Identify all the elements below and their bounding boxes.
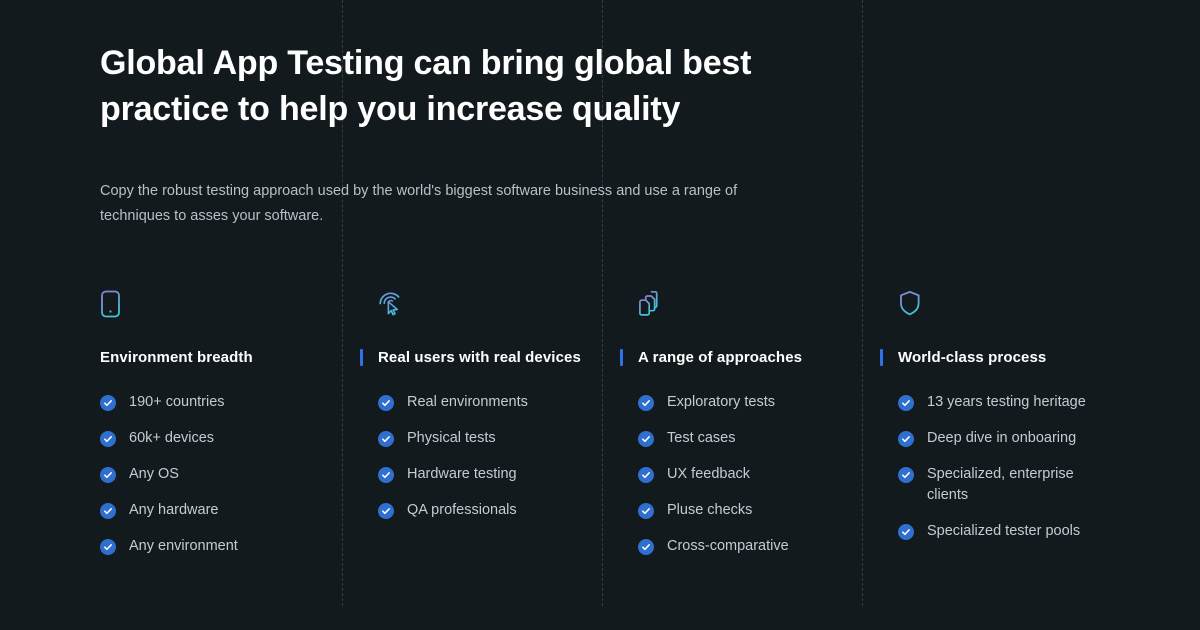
list-item-label: Pluse checks [667, 500, 752, 521]
check-icon [638, 431, 654, 447]
feature-heading: World-class process [898, 348, 1114, 368]
feature-column-real-users: Real users with real devices Real enviro… [360, 290, 620, 572]
list-item-label: 13 years testing heritage [927, 392, 1086, 413]
feature-heading-label: A range of approaches [638, 349, 802, 366]
heading-accent-bar [880, 349, 883, 366]
list-item-label: Specialized tester pools [927, 521, 1080, 542]
check-icon [100, 395, 116, 411]
heading-accent-bar [360, 349, 363, 366]
list-item: Physical tests [378, 428, 594, 449]
feature-heading: Real users with real devices [378, 348, 594, 368]
feature-checklist: Exploratory tests Test cases UX feedback [638, 392, 854, 557]
feature-heading: A range of approaches [638, 348, 854, 368]
list-item-label: Real environments [407, 392, 528, 413]
list-item-label: UX feedback [667, 464, 750, 485]
list-item: Test cases [638, 428, 854, 449]
check-icon [100, 503, 116, 519]
copy-documents-icon [638, 290, 664, 320]
shield-icon [898, 290, 924, 320]
check-icon [898, 524, 914, 540]
check-icon [378, 467, 394, 483]
check-icon [100, 467, 116, 483]
list-item-label: 60k+ devices [129, 428, 214, 449]
list-item: Hardware testing [378, 464, 594, 485]
list-item-label: Any OS [129, 464, 179, 485]
feature-checklist: 190+ countries 60k+ devices Any OS [100, 392, 334, 557]
page-subtitle: Copy the robust testing approach used by… [100, 179, 800, 229]
marketing-feature-page: Global App Testing can bring global best… [0, 0, 1200, 630]
list-item: QA professionals [378, 500, 594, 521]
feature-column-environment-breadth: Environment breadth 190+ countries 60k+ … [0, 290, 360, 572]
list-item-label: 190+ countries [129, 392, 225, 413]
feature-column-world-class-process: World-class process 13 years testing her… [880, 290, 1140, 572]
list-item: Pluse checks [638, 500, 854, 521]
feature-checklist: 13 years testing heritage Deep dive in o… [898, 392, 1114, 542]
list-item: UX feedback [638, 464, 854, 485]
list-item-label: Physical tests [407, 428, 496, 449]
tap-cursor-icon [378, 290, 404, 320]
list-item-label: Test cases [667, 428, 736, 449]
feature-columns: Environment breadth 190+ countries 60k+ … [0, 290, 1200, 572]
feature-checklist: Real environments Physical tests Hardwar… [378, 392, 594, 521]
list-item-label: Any environment [129, 536, 238, 557]
check-icon [638, 503, 654, 519]
list-item: 13 years testing heritage [898, 392, 1114, 413]
list-item: Specialized tester pools [898, 521, 1114, 542]
mobile-phone-icon [100, 290, 126, 320]
list-item-label: Any hardware [129, 500, 218, 521]
list-item-label: Hardware testing [407, 464, 517, 485]
check-icon [638, 395, 654, 411]
list-item: Cross-comparative [638, 536, 854, 557]
list-item: 190+ countries [100, 392, 334, 413]
feature-heading: Environment breadth [100, 348, 334, 368]
list-item-label: QA professionals [407, 500, 517, 521]
check-icon [100, 539, 116, 555]
list-item-label: Specialized, enterprise clients [927, 464, 1112, 506]
list-item-label: Exploratory tests [667, 392, 775, 413]
check-icon [100, 431, 116, 447]
list-item: 60k+ devices [100, 428, 334, 449]
list-item-label: Deep dive in onboaring [927, 428, 1076, 449]
check-icon [898, 431, 914, 447]
list-item: Real environments [378, 392, 594, 413]
check-icon [898, 467, 914, 483]
list-item: Specialized, enterprise clients [898, 464, 1114, 506]
heading-accent-bar [620, 349, 623, 366]
feature-heading-label: Environment breadth [100, 349, 253, 366]
list-item: Any hardware [100, 500, 334, 521]
check-icon [378, 395, 394, 411]
page-title: Global App Testing can bring global best… [100, 40, 790, 132]
list-item: Exploratory tests [638, 392, 854, 413]
check-icon [638, 539, 654, 555]
check-icon [378, 431, 394, 447]
feature-heading-label: World-class process [898, 349, 1046, 366]
check-icon [378, 503, 394, 519]
list-item: Deep dive in onboaring [898, 428, 1114, 449]
feature-column-approaches: A range of approaches Exploratory tests … [620, 290, 880, 572]
list-item-label: Cross-comparative [667, 536, 789, 557]
list-item: Any OS [100, 464, 334, 485]
check-icon [638, 467, 654, 483]
check-icon [898, 395, 914, 411]
feature-heading-label: Real users with real devices [378, 349, 581, 366]
list-item: Any environment [100, 536, 334, 557]
